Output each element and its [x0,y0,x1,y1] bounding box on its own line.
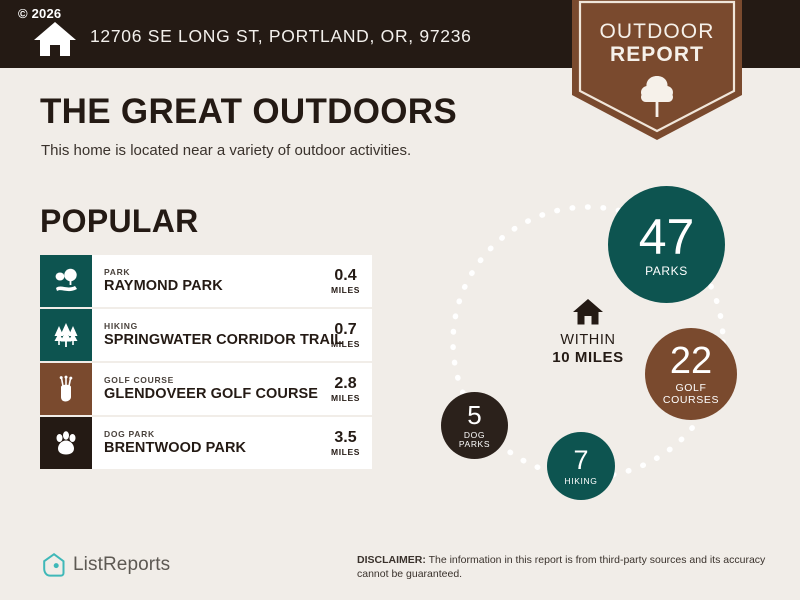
row-text: GOLF COURSE GLENDOVEER GOLF COURSE [92,375,331,403]
bubble-hiking[interactable]: 7 HIKING [547,432,615,500]
list-item[interactable]: PARK RAYMOND PARK 0.4 MILES [40,255,372,307]
row-category: DOG PARK [104,429,331,440]
outdoor-report-badge: OUTDOOR REPORT [572,0,742,140]
listreports-logo-text: ListReports [73,554,170,576]
page-subtitle: This home is located near a variety of o… [41,142,411,159]
page-title: THE GREAT OUTDOORS [40,92,457,132]
row-distance: 0.7 MILES [331,321,372,350]
row-category: HIKING [104,321,331,332]
row-distance-unit: MILES [331,285,360,296]
bubble-golf-courses[interactable]: 22 GOLF COURSES [645,328,737,420]
row-text: DOG PARK BRENTWOOD PARK [92,429,331,457]
row-distance: 3.5 MILES [331,429,372,458]
golf-bag-icon [52,375,80,403]
row-distance-unit: MILES [331,447,360,458]
list-item[interactable]: GOLF COURSE GLENDOVEER GOLF COURSE 2.8 M… [40,363,372,415]
row-distance: 0.4 MILES [331,267,372,296]
paw-print-icon [52,429,80,457]
row-distance-unit: MILES [331,393,360,404]
row-distance-value: 0.7 [331,321,360,339]
row-name: SPRINGWATER CORRIDOR TRAIL [104,332,331,349]
row-distance-unit: MILES [331,339,360,350]
row-icon-tile [40,417,92,469]
row-distance-value: 2.8 [331,375,360,393]
pine-trees-icon [52,321,80,349]
diagram-center: WITHIN 10 MILES [518,298,658,367]
row-icon-tile [40,309,92,361]
home-icon [572,298,604,326]
row-name: RAYMOND PARK [104,278,331,295]
badge-line-two: REPORT [572,43,742,67]
row-distance: 2.8 MILES [331,375,372,404]
row-name: BRENTWOOD PARK [104,440,331,457]
bubble-parks[interactable]: 47 PARKS [608,186,725,303]
row-category: GOLF COURSE [104,375,331,386]
bubble-golf-label-line2: COURSES [663,394,719,406]
bubble-dog-label: DOG PARKS [459,431,490,449]
bubble-golf-label: GOLF COURSES [663,383,719,405]
row-distance-value: 3.5 [331,429,360,447]
tree-icon [638,74,676,118]
within-10-miles-diagram: 47 PARKS 22 GOLF COURSES 7 HIKING 5 DOG … [420,170,780,520]
row-name: GLENDOVEER GOLF COURSE [104,386,331,403]
list-item[interactable]: HIKING SPRINGWATER CORRIDOR TRAIL 0.7 MI… [40,309,372,361]
row-distance-value: 0.4 [331,267,360,285]
bubble-hiking-value: 7 [573,447,588,474]
bubble-dog-parks[interactable]: 5 DOG PARKS [441,392,508,459]
property-address: 12706 SE LONG ST, PORTLAND, OR, 97236 [90,26,472,47]
bubble-golf-value: 22 [670,342,712,380]
list-item[interactable]: DOG PARK BRENTWOOD PARK 3.5 MILES [40,417,372,469]
row-icon-tile [40,255,92,307]
bubble-dog-label-line2: PARKS [459,439,490,449]
row-category: PARK [104,267,331,278]
center-line-two: 10 MILES [518,349,658,367]
bubble-hiking-label: HIKING [565,477,598,486]
listreports-logo[interactable]: ListReports [42,552,170,578]
popular-heading: POPULAR [40,203,199,240]
badge-line-one: OUTDOOR [572,20,742,44]
park-tree-icon [52,267,80,295]
home-icon [33,20,77,58]
outdoor-report-page: © 2026 12706 SE LONG ST, PORTLAND, OR, 9… [0,0,800,600]
row-text: PARK RAYMOND PARK [92,267,331,295]
popular-list: PARK RAYMOND PARK 0.4 MILES HIK [40,255,372,471]
row-text: HIKING SPRINGWATER CORRIDOR TRAIL [92,321,331,349]
disclaimer-label: DISCLAIMER: [357,554,426,566]
center-line-one: WITHIN [518,332,658,349]
copyright-label: © 2026 [18,6,61,21]
bubble-dog-value: 5 [467,402,481,428]
row-icon-tile [40,363,92,415]
listreports-house-tag-icon [42,552,66,578]
disclaimer: DISCLAIMER: The information in this repo… [357,553,777,581]
bubble-parks-label: PARKS [645,265,688,278]
bubble-parks-value: 47 [639,212,695,262]
